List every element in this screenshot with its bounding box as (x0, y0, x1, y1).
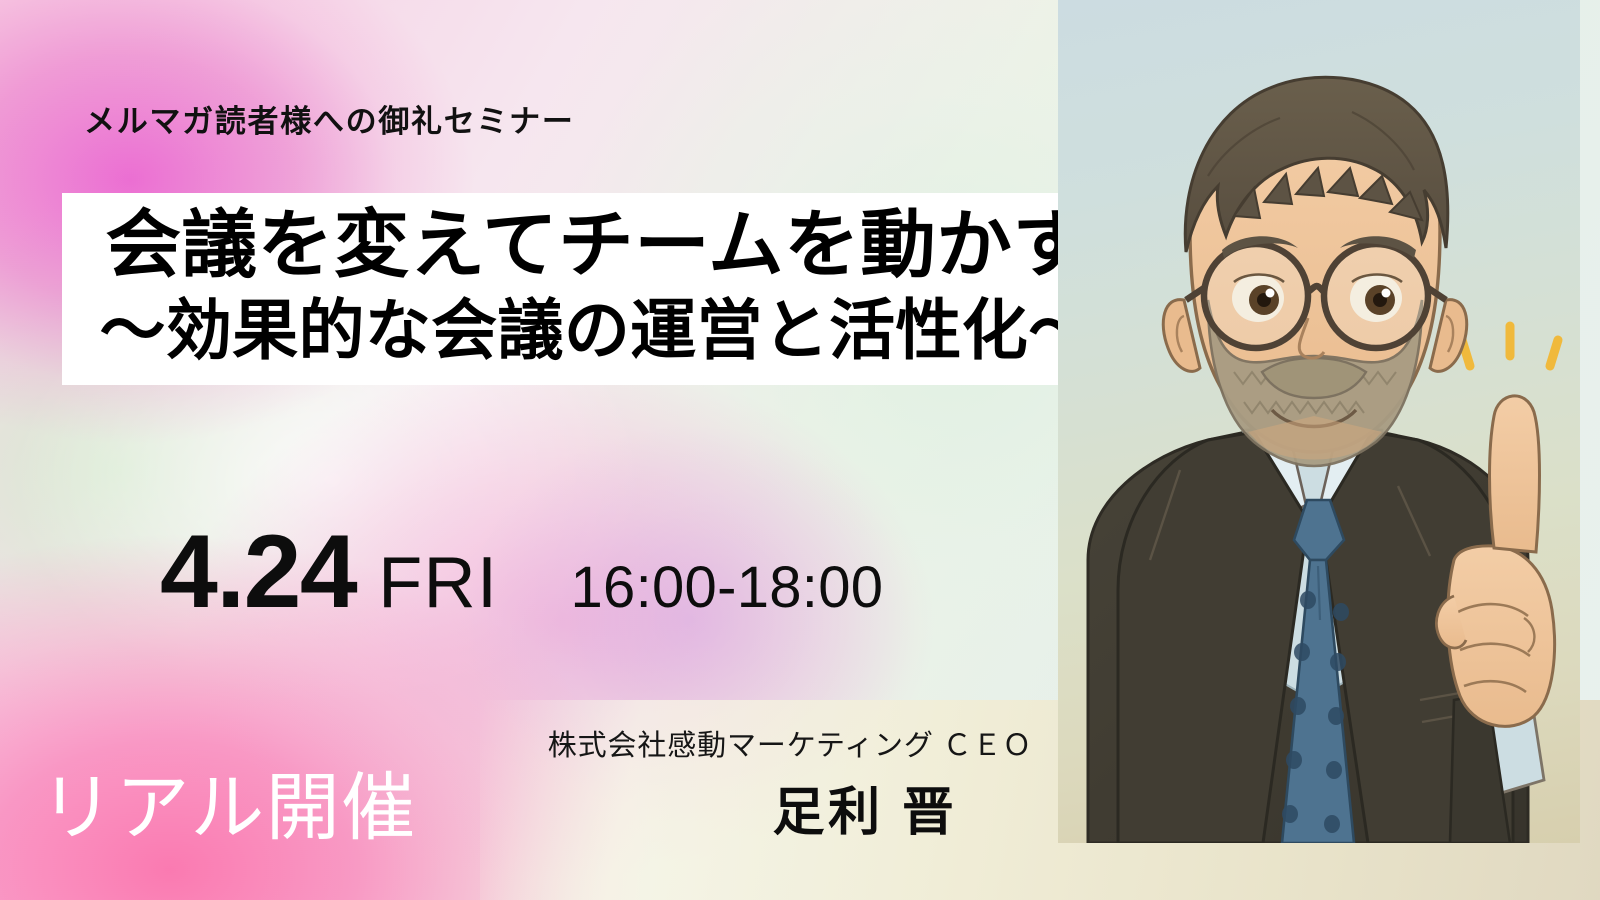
seminar-banner: メルマガ読者様への御礼セミナー 会議を変えてチームを動かす ～効果的な会議の運営… (0, 0, 1600, 900)
event-weekday: FRI (378, 547, 498, 619)
speaker-company-role: 株式会社感動マーケティング ＣＥＯ (540, 722, 1040, 764)
event-time-range: 16:00-18:00 (571, 559, 884, 617)
bearded-man-icon (1163, 77, 1467, 466)
emphasis-lines-icon (1462, 326, 1558, 366)
title-plate: 会議を変えてチームを動かす ～効果的な会議の運営と活性化～ (62, 193, 1132, 385)
event-format-badge: リアル開催 (40, 748, 417, 855)
speaker-portrait-illustration (1058, 0, 1580, 843)
event-datetime: 4.24 FRI 16:00-18:00 (160, 520, 883, 624)
event-date: 4.24 (160, 520, 356, 624)
speaker-name: 足利 晋 (690, 770, 1040, 845)
portrait-svg (1058, 0, 1580, 843)
title-line-primary: 会議を変えてチームを動かす (51, 199, 1142, 291)
title-line-secondary: ～効果的な会議の運営と活性化～ (62, 285, 1132, 377)
kicker-text: メルマガ読者様への御礼セミナー (84, 96, 575, 141)
